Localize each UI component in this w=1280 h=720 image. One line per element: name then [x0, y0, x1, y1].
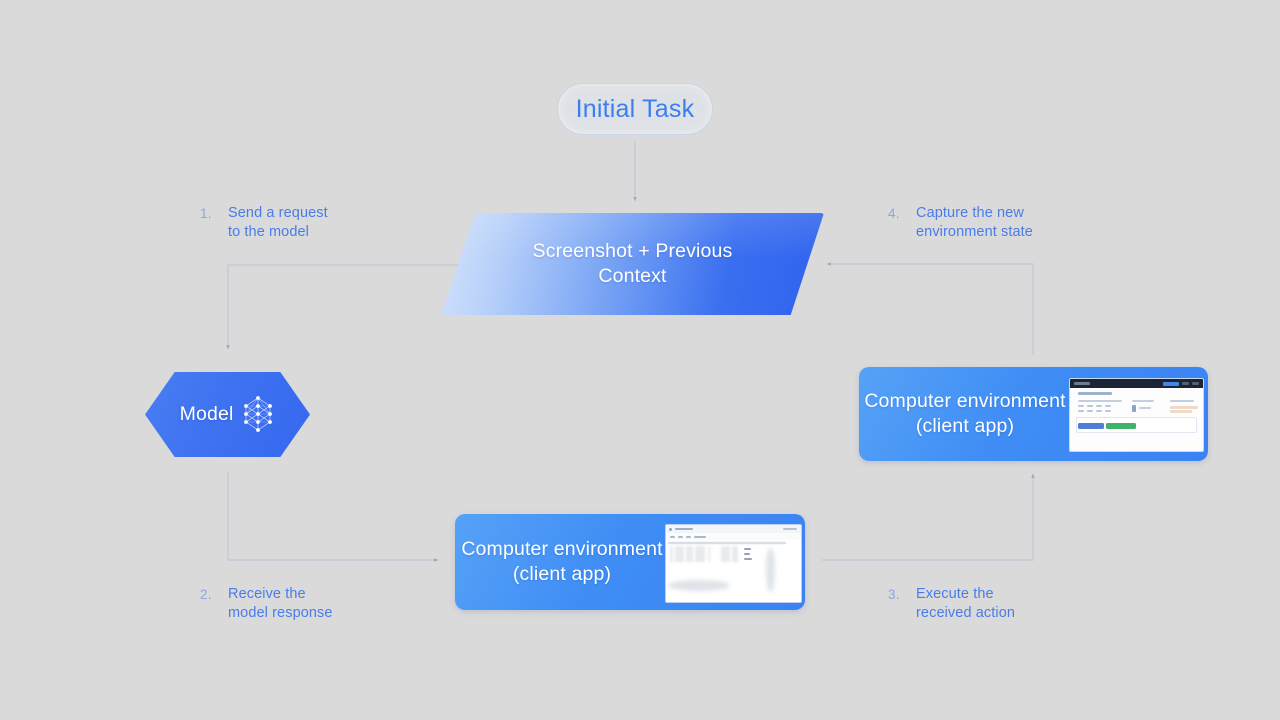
diagram-canvas: Initial Task Screenshot + Previous Conte… — [0, 0, 1280, 720]
thumb-rule — [668, 542, 786, 544]
thumb-menu-item — [670, 536, 675, 538]
thumb-text-line — [1132, 400, 1154, 402]
thumb-document-body — [666, 540, 801, 602]
thumb-field — [1078, 405, 1084, 407]
thumb-nav-item-1 — [1182, 382, 1189, 385]
context-label-line1: Screenshot + Previous — [533, 239, 733, 264]
step-3-number: 3. — [888, 585, 916, 602]
thumb-heading — [1078, 392, 1112, 395]
thumb-topbar — [1070, 379, 1203, 388]
thumb-app-icon — [669, 528, 672, 531]
env-bottom-label-line2: (client app) — [513, 563, 611, 585]
web-app-screenshot-thumbnail — [1069, 378, 1204, 452]
connector-env-bottom-to-env-right — [822, 474, 1033, 560]
step-label-4: 4. Capture the new environment state — [888, 204, 1033, 241]
thumb-body — [1070, 388, 1203, 451]
step-4-number: 4. — [888, 204, 916, 221]
node-initial-task[interactable]: Initial Task — [557, 83, 713, 135]
model-content: Model — [145, 372, 310, 457]
thumb-primary-button — [1163, 382, 1179, 386]
thumb-field — [1096, 410, 1102, 412]
thumb-column — [670, 546, 673, 562]
env-right-label: Computer environment (client app) — [859, 389, 1071, 439]
thumb-value — [744, 553, 750, 555]
thumb-field — [1087, 405, 1093, 407]
step-4-text: Capture the new environment state — [916, 204, 1033, 241]
thumb-menu-item — [678, 536, 683, 538]
thumb-field — [1078, 410, 1084, 412]
thumb-button-green — [1106, 423, 1136, 429]
thumb-window-controls — [783, 528, 797, 530]
node-model[interactable]: Model — [145, 372, 310, 457]
env-right-label-line1: Computer environment — [864, 390, 1065, 412]
thumb-highlight — [1170, 406, 1198, 409]
node-computer-environment-bottom[interactable]: Computer environment (client app) — [455, 514, 805, 610]
thumb-blur-shape — [668, 580, 730, 591]
thumb-column — [695, 546, 705, 562]
connector-model-to-env-bottom — [228, 472, 438, 560]
connector-context-to-model — [228, 265, 470, 349]
step-label-1: 1. Send a request to the model — [200, 204, 328, 241]
thumb-blur-shape — [766, 548, 775, 592]
thumb-glyph — [1132, 405, 1136, 412]
thumb-text-line — [1170, 400, 1194, 402]
step-3-text: Execute the received action — [916, 585, 1015, 622]
thumb-text-line — [1078, 400, 1122, 402]
node-screenshot-previous-context[interactable]: Screenshot + Previous Context — [441, 213, 824, 315]
step-2-number: 2. — [200, 585, 228, 602]
env-right-label-line2: (client app) — [916, 415, 1014, 437]
thumb-window-title — [675, 528, 693, 530]
step-label-2: 2. Receive the model response — [200, 585, 333, 622]
thumb-column — [675, 546, 684, 562]
initial-task-label: Initial Task — [576, 95, 695, 124]
neural-network-icon — [241, 395, 275, 435]
thumb-field — [1105, 410, 1111, 412]
thumb-column — [708, 546, 710, 562]
env-bottom-label-line1: Computer environment — [461, 538, 662, 560]
thumb-nav-item-2 — [1192, 382, 1199, 385]
thumb-column — [686, 546, 693, 562]
step-1-number: 1. — [200, 204, 228, 221]
context-label-line2: Context — [598, 264, 666, 289]
thumb-field — [1087, 410, 1093, 412]
thumb-logo — [1074, 382, 1090, 385]
document-app-screenshot-thumbnail — [665, 524, 802, 603]
thumb-column — [732, 546, 738, 562]
connector-env-right-to-context — [827, 264, 1033, 355]
env-bottom-label: Computer environment (client app) — [457, 537, 667, 587]
model-label: Model — [180, 403, 234, 426]
thumb-field — [1096, 405, 1102, 407]
node-computer-environment-right[interactable]: Computer environment (client app) — [859, 367, 1208, 461]
thumb-menu-item — [686, 536, 691, 538]
step-label-3: 3. Execute the received action — [888, 585, 1015, 622]
thumb-text-line — [1139, 407, 1151, 409]
step-2-text: Receive the model response — [228, 585, 333, 622]
context-label: Screenshot + Previous Context — [441, 213, 824, 315]
thumb-field — [1105, 405, 1111, 407]
thumb-menu-item — [694, 536, 706, 538]
thumb-highlight — [1170, 410, 1192, 413]
thumb-column — [721, 546, 730, 562]
thumb-value — [744, 558, 752, 560]
step-1-text: Send a request to the model — [228, 204, 328, 241]
thumb-value — [744, 548, 751, 550]
thumb-button-blue — [1078, 423, 1104, 429]
